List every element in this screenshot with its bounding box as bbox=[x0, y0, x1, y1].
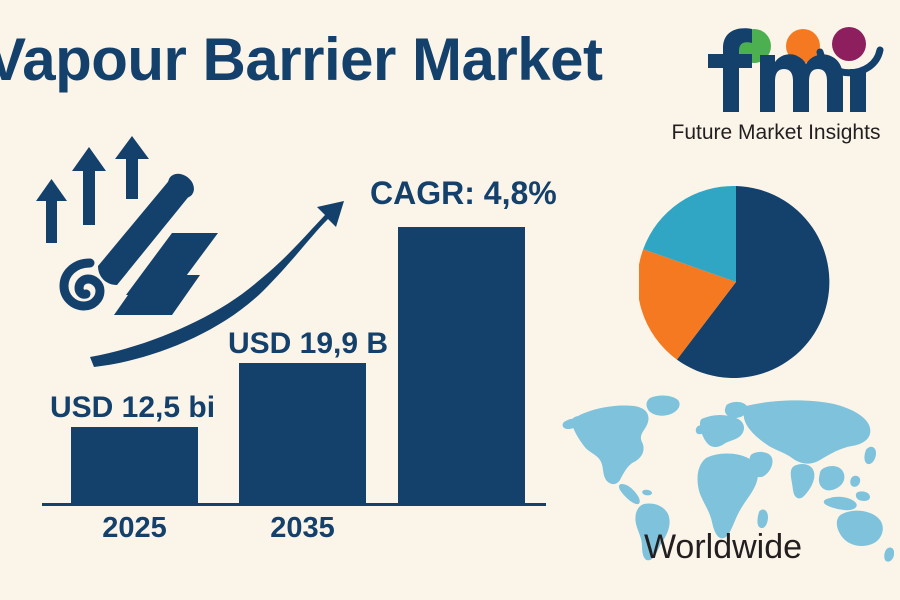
fmi-logo-mark bbox=[668, 24, 884, 124]
bar-chart: USD 12,5 bi USD 19,9 B CAGR: 4,8% 2025 2… bbox=[0, 0, 600, 600]
fmi-logo: Future Market Insights bbox=[668, 24, 884, 144]
axis-tick-2035: 2035 bbox=[239, 512, 366, 545]
bar-2025 bbox=[71, 427, 198, 505]
logo-letter-m bbox=[760, 54, 843, 112]
bar-value-label-2035: USD 19,9 B bbox=[228, 327, 388, 361]
axis-tick-2025: 2025 bbox=[71, 512, 198, 545]
worldwide-label: Worldwide bbox=[558, 528, 888, 567]
cagr-label: CAGR: 4,8% bbox=[370, 175, 557, 212]
infographic-canvas: Vapour Barrier Market Future Market Insi… bbox=[0, 0, 900, 600]
bar-2035 bbox=[239, 363, 366, 505]
logo-letter-i bbox=[850, 69, 866, 112]
chart-axis-line bbox=[42, 503, 546, 506]
logo-tagline: Future Market Insights bbox=[668, 121, 884, 145]
bar-value-label-2025: USD 12,5 bi bbox=[50, 391, 215, 425]
bar-forecast bbox=[398, 227, 525, 505]
pie-chart bbox=[639, 185, 833, 379]
logo-letter-f bbox=[708, 28, 752, 112]
logo-dot-purple bbox=[832, 27, 866, 61]
